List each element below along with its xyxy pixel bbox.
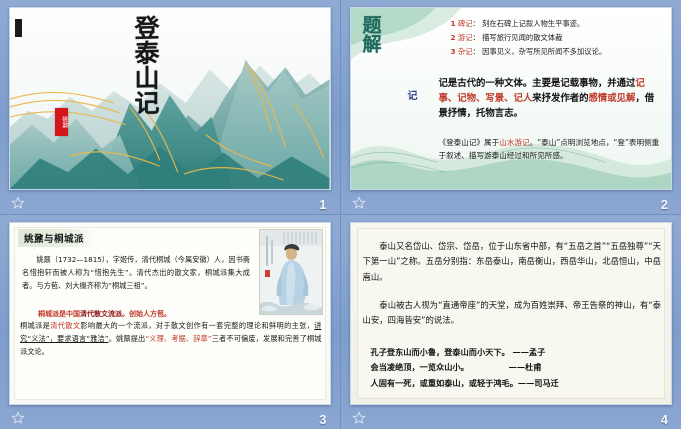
list-item-number: 2 [451, 33, 456, 42]
redline-part: 桐城派是中国 [38, 310, 80, 318]
paragraph-part: 来抒发作者的 [532, 93, 588, 104]
list-item-term: 碑记 [458, 19, 473, 28]
slide-3-page-number: 3 [319, 412, 326, 427]
list-item-sep: ： [473, 19, 480, 28]
body-part: 影响最大的一个流派，对于散文创作有一套完整的理论和鲜明的主张， [80, 321, 314, 330]
redline-highlight: 清代散文流派 [80, 310, 122, 318]
list-item-number: 1 [451, 19, 456, 28]
author-seal: 姚鼐 [55, 108, 68, 136]
slide-2-sub-paragraph: 《登泰山记》属于山水游记。“泰山”点明浏览地点，“登”表明侧重于叙述、描写游泰山… [439, 136, 664, 163]
slide-thumbnail-grid: 登泰山记 姚鼐 1 [0, 0, 681, 429]
body-highlight: “义理、考据、辞章” [145, 334, 211, 343]
slide-2-main-paragraph: 记是古代的一种文体。主要是记载事物，并通过记事、记物、写景、记人来抒发作者的感情… [439, 76, 664, 122]
slide-4-footer: 4 [350, 407, 673, 427]
paragraph-part: 《登泰山记》属于 [439, 138, 500, 147]
slide-2-canvas[interactable]: 题解 记 1 碑记： 刻在石碑上记叙人物生平事迹。 2 游记： 描写旅行见闻的散… [350, 7, 673, 190]
list-item-text: 因事见义，杂写所见所闻不多加议论。 [482, 47, 606, 56]
body-part: 。姚鼐提出 [109, 334, 146, 343]
star-bookmark-icon[interactable] [352, 196, 366, 210]
quote-line: 人固有一死，或重如泰山，或轻于鸿毛。——司马迁 [371, 376, 662, 392]
list-item: 1 碑记： 刻在石碑上记叙人物生平事迹。 [451, 17, 666, 31]
list-item-number: 3 [451, 47, 456, 56]
body-highlight: 清代散文 [50, 321, 80, 330]
redline-part: 。创始人方苞。 [122, 310, 171, 318]
list-item-text: 刻在石碑上记叙人物生平事迹。 [482, 19, 584, 28]
list-item: 2 游记： 描写旅行见闻的散文体裁 [451, 31, 666, 45]
star-bookmark-icon[interactable] [352, 411, 366, 425]
list-item-sep: ： [473, 33, 480, 42]
slide-cell-1[interactable]: 登泰山记 姚鼐 1 [0, 0, 341, 215]
slide-4-quotes: 孔子登东山而小鲁，登泰山而小天下。 ——孟子 会当凌绝顶，一览众山小。 ——杜甫… [371, 345, 662, 393]
list-item: 3 杂记： 因事见义，杂写所见所闻不多加议论。 [451, 45, 666, 59]
slide-4-paragraph-2: 泰山被古人视为“直通帝座”的天堂，成为百姓崇拜、帝王告祭的神山，有“泰山安，四海… [363, 298, 662, 329]
slide-4-page-number: 4 [661, 412, 668, 427]
cover-title: 登泰山记 [131, 15, 159, 116]
paragraph-part: 记是古代的一种文体。主要是记载事物，并通过 [439, 78, 636, 89]
slide-2-page-number: 2 [661, 197, 668, 212]
star-bookmark-icon[interactable] [11, 196, 25, 210]
slide-4-paragraph-1: 泰山又名岱山、岱宗、岱岳，位于山东省中部，有“五岳之首”“五岳独尊”“天下第一山… [363, 239, 662, 286]
slide-1-artwork [10, 8, 330, 189]
slide-cell-2[interactable]: 题解 记 1 碑记： 刻在石碑上记叙人物生平事迹。 2 游记： 描写旅行见闻的散… [341, 0, 681, 215]
slide-2-heading: 题解 [360, 15, 380, 53]
yao-nai-portrait [259, 229, 323, 315]
slide-cell-3[interactable]: 姚鼐与桐城派 [0, 215, 341, 429]
slide-3-footer: 3 [9, 407, 331, 427]
paragraph-highlight: 山水游记 [499, 138, 529, 147]
star-bookmark-icon[interactable] [11, 411, 25, 425]
slide-3-canvas[interactable]: 姚鼐与桐城派 [9, 222, 331, 405]
slide-3-body: 桐城派是清代散文影响最大的一个流派，对于散文创作有一套完整的理论和鲜明的主张，讲… [20, 319, 322, 358]
slide-3-heading: 姚鼐与桐城派 [18, 229, 94, 247]
paragraph-highlight: 感情或见解 [589, 93, 636, 104]
quote-line: 孔子登东山而小鲁，登泰山而小天下。 ——孟子 [371, 345, 662, 361]
slide-4-canvas[interactable]: 泰山又名岱山、岱宗、岱岳，位于山东省中部，有“五岳之首”“五岳独尊”“天下第一山… [350, 222, 673, 405]
decor-black-bar [15, 19, 22, 37]
slide-2-side-label: 记 [408, 87, 418, 102]
list-item-term: 游记 [458, 33, 473, 42]
slide-1-canvas[interactable]: 登泰山记 姚鼐 [9, 7, 331, 190]
quote-line: 会当凌绝顶，一览众山小。 ——杜甫 [371, 360, 662, 376]
slide-1-page-number: 1 [319, 197, 326, 212]
list-item-term: 杂记 [458, 47, 473, 56]
slide-3-red-highlight-line: 桐城派是中国清代散文流派。创始人方苞。 [38, 309, 320, 319]
slide-1-footer: 1 [9, 192, 331, 212]
list-item-text: 描写旅行见闻的散文体裁 [482, 33, 562, 42]
list-item-sep: ： [473, 47, 480, 56]
slide-3-biography: 姚鼐（1732—1815），字姬传，清代桐城（今属安徽）人，因书斋名惜抱轩而被人… [22, 253, 250, 293]
slide-2-footer: 2 [350, 192, 673, 212]
body-part: 桐城派是 [20, 321, 50, 330]
genre-definition-list: 1 碑记： 刻在石碑上记叙人物生平事迹。 2 游记： 描写旅行见闻的散文体裁 3… [451, 17, 666, 60]
slide-cell-4[interactable]: 泰山又名岱山、岱宗、岱岳，位于山东省中部，有“五岳之首”“五岳独尊”“天下第一山… [341, 215, 681, 429]
